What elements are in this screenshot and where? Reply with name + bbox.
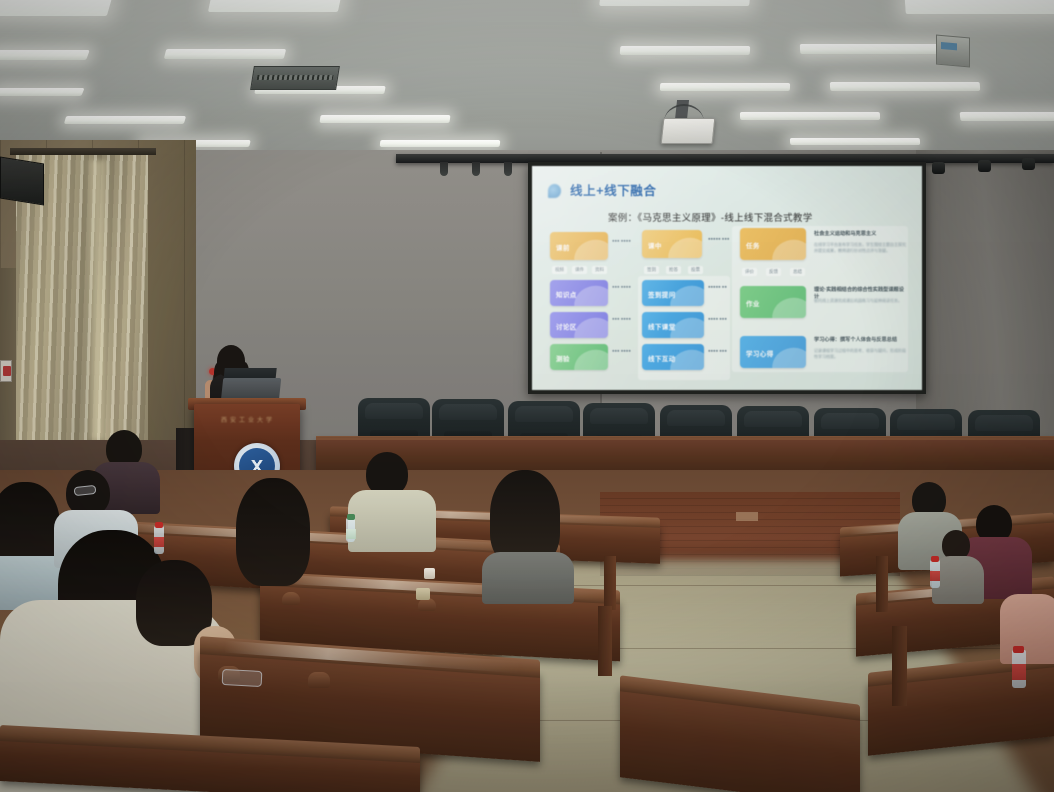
ceiling-speaker	[936, 35, 970, 68]
slide-card-label: 知识点	[556, 289, 577, 299]
wall-plate	[736, 512, 758, 521]
rail-hook	[504, 162, 512, 176]
slide-desc-body: 在线学习平台发布学习任务，学生围绕主题自主探究并提交成果，教师进行针对性点评与答…	[814, 242, 908, 254]
track-spotlight	[1022, 158, 1035, 170]
bottle-label	[346, 529, 356, 539]
slide-tag: 总结	[790, 268, 805, 276]
slide-tag: 资料	[592, 266, 607, 274]
person-torso	[348, 490, 436, 552]
ceiling-light	[0, 50, 90, 60]
slide-connector-text: ●●● ●●●●	[612, 238, 631, 244]
slide-connector-text: ●●● ●●●●	[612, 348, 631, 354]
slide-card: 课前	[550, 232, 608, 260]
slide-card-label: 课前	[556, 242, 570, 252]
paper-cup	[416, 588, 430, 600]
ceiling-light	[660, 83, 790, 91]
water-bottle	[1012, 650, 1026, 688]
slide-card: 测验	[550, 344, 608, 370]
slide-card-label: 学习心得	[746, 348, 774, 358]
slide-card-label: 课中	[648, 240, 662, 250]
water-bottle	[346, 518, 355, 542]
slide-title: 线上+线下融合	[570, 180, 657, 199]
ceiling-light	[164, 49, 286, 59]
ceiling-light	[380, 140, 501, 147]
track-spotlight	[978, 160, 991, 172]
slide-card: 课中	[642, 230, 702, 258]
curtain-rod	[10, 148, 156, 155]
right-wall-panel	[916, 150, 1054, 450]
ceiling-light	[800, 44, 951, 54]
water-bottle	[930, 560, 940, 588]
slide-bullet-icon	[548, 184, 561, 198]
desk-armrest-cap	[308, 672, 330, 688]
slide-tag: 签到	[644, 266, 659, 274]
paper-cup	[424, 568, 435, 579]
slide-card: 讨论区	[550, 312, 608, 338]
ceiling-light	[960, 112, 1054, 121]
slide-card-label: 讨论区	[556, 321, 577, 331]
desk-armrest-cap	[282, 592, 300, 605]
curtain-light-glow	[86, 160, 110, 440]
bottle-label	[1012, 664, 1026, 680]
bottle-cap	[931, 556, 939, 562]
person-hair	[236, 478, 310, 586]
bottle-cap	[347, 514, 355, 520]
rail-hook	[440, 162, 448, 176]
slide-tag: 视频	[552, 266, 567, 274]
slide-card: 线下课堂	[642, 312, 704, 338]
projector	[661, 118, 716, 144]
track-spotlight	[932, 162, 945, 174]
desk-leg	[876, 556, 888, 612]
slide-card-label: 测验	[556, 353, 570, 363]
slide-connector-text: ●●●●● ●●	[708, 284, 727, 290]
slide-card-label: 线下互动	[648, 353, 676, 363]
slide-tag: 评价	[742, 268, 757, 276]
water-bottle	[154, 526, 164, 554]
slide-tag: 投票	[688, 266, 703, 274]
slide-card-label: 线下课堂	[648, 321, 676, 331]
slide-connector-text: ●●●● ●●●	[708, 316, 727, 322]
ceiling-light	[790, 138, 920, 145]
wall-speaker	[0, 157, 44, 206]
slide-desc-body: 记录课程学习过程中的思考、收获与疑问，形成阶段性学习档案。	[814, 348, 908, 360]
ceiling-light	[904, 0, 1054, 14]
slide-connector-text: ●●●● ●●●	[708, 348, 727, 354]
slide-body: 课前 视频 课件 资料 知识点 讨论区 测验 ●●● ●●●● ●●● ●●●●…	[550, 230, 916, 374]
ceiling-light	[599, 0, 751, 6]
slide-desc-heading: 社会主义运动和马克思主义	[814, 230, 906, 237]
slide-connector-text: ●●● ●●●●	[612, 316, 631, 322]
slide-card-label: 作业	[746, 298, 760, 308]
bottle-cap	[1013, 646, 1024, 653]
ceiling-light	[64, 116, 186, 124]
slide-connector-text: ●●●●● ●●●	[708, 236, 729, 242]
person-torso	[1000, 594, 1054, 664]
slide-card: 知识点	[550, 280, 608, 306]
ceiling-light	[740, 112, 880, 120]
slide-card-label: 任务	[746, 240, 760, 250]
ceiling-light	[620, 46, 751, 55]
rail-hook	[472, 162, 480, 176]
podium-institution-text: 西安工业大学	[210, 415, 286, 426]
slide-subtitle: 案例：《马克思主义原理》-线上线下混合式教学	[608, 210, 813, 224]
slide-card: 作业	[740, 286, 806, 318]
ceiling-light	[0, 88, 85, 96]
ceiling-light	[319, 115, 450, 123]
slide-desc-heading: 学习心得：撰写个人体会与反思总结	[814, 336, 906, 343]
slide-tag: 反馈	[766, 268, 781, 276]
slide-card-label: 签到提问	[648, 289, 676, 299]
slide-desc-body: 依托线上资源完成课后巩固练习与延伸阅读任务。	[814, 298, 908, 304]
wall-notice-sign	[0, 360, 12, 382]
ceiling-light	[830, 82, 981, 91]
desk-leg	[892, 626, 907, 706]
bottle-label	[154, 537, 164, 547]
desk-leg	[598, 606, 612, 676]
slide-card: 学习心得	[740, 336, 806, 368]
desk-leg	[604, 556, 616, 610]
slide-tag: 课件	[572, 266, 587, 274]
ceiling-light	[0, 0, 113, 16]
bottle-label	[930, 571, 940, 581]
head-table	[316, 438, 1054, 474]
presentation-slide: 线上+线下融合 案例：《马克思主义原理》-线上线下混合式教学 课前 视频 课件 …	[532, 166, 922, 390]
eyeglasses	[222, 669, 263, 687]
projection-screen: 线上+线下融合 案例：《马克思主义原理》-线上线下混合式教学 课前 视频 课件 …	[532, 166, 922, 390]
lecture-hall-scene: 线上+线下融合 案例：《马克思主义原理》-线上线下混合式教学 课前 视频 课件 …	[0, 0, 1054, 792]
bottle-cap	[155, 522, 163, 528]
slide-card: 签到提问	[642, 280, 704, 306]
slide-tag: 抢答	[666, 266, 681, 274]
person-torso	[482, 552, 574, 604]
ceiling-light	[208, 0, 342, 12]
air-conditioning-vent	[250, 66, 340, 90]
slide-card: 任务	[740, 228, 806, 260]
slide-connector-text: ●●● ●●●●	[612, 284, 631, 290]
slide-card: 线下互动	[642, 344, 704, 370]
